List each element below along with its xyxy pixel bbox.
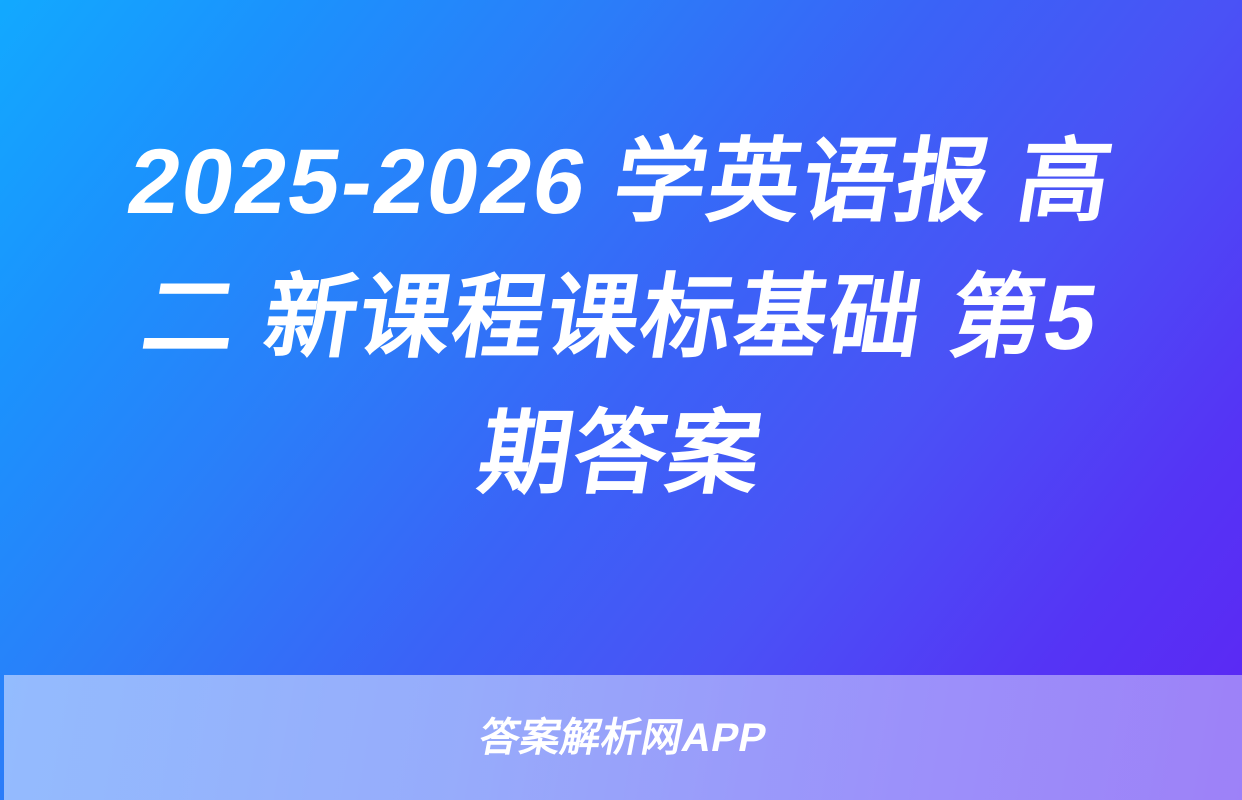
poster-title-line-1: 2025-2026 学英语报 高 bbox=[45, 114, 1197, 250]
footer-brand-label: 答案解析网APP bbox=[476, 718, 770, 758]
poster-canvas: 2025-2026 学英语报 高 二 新课程课标基础 第5 期答案 答案解析网A… bbox=[0, 0, 1242, 800]
poster-title-line-3: 期答案 bbox=[45, 386, 1197, 522]
poster-title-line-2: 二 新课程课标基础 第5 bbox=[45, 250, 1197, 386]
footer-brand-band: 答案解析网APP bbox=[4, 675, 1242, 800]
poster-title-block: 2025-2026 学英语报 高 二 新课程课标基础 第5 期答案 bbox=[0, 0, 1242, 676]
